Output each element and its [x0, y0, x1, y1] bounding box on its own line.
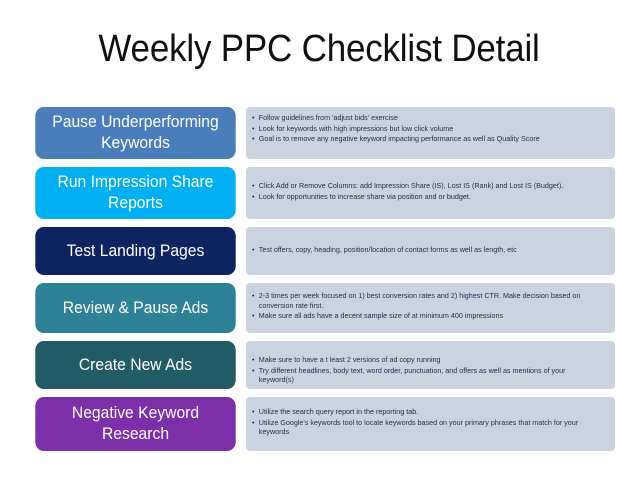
checklist-label-text: Pause Underperforming Keywords: [45, 112, 226, 154]
detail-bullet: Click Add or Remove Columns: add Impress…: [252, 181, 597, 191]
checklist-label-box[interactable]: Test Landing Pages: [35, 227, 235, 275]
detail-bullet: Utilize Google's keywords tool to locate…: [252, 418, 597, 437]
checklist-detail-panel: Test offers, copy, heading, position/loc…: [246, 227, 615, 275]
checklist-label-box[interactable]: Run Impression Share Reports: [35, 167, 235, 219]
checklist-label-text: Create New Ads: [79, 355, 192, 376]
slide: Weekly PPC Checklist Detail Pause Underp…: [0, 0, 638, 479]
detail-bullet: 2-3 times per week focused on 1) best co…: [252, 291, 597, 310]
checklist-label-text: Run Impression Share Reports: [45, 172, 226, 214]
detail-bullet: Goal is to remove any negative keyword i…: [252, 134, 597, 144]
detail-bullet: Make sure all ads have a decent sample s…: [252, 311, 597, 321]
checklist-label-box[interactable]: Review & Pause Ads: [35, 283, 235, 333]
detail-bullet: Look for keywords with high impressions …: [252, 124, 597, 134]
checklist-detail-panel: Follow guidelines from 'adjust bids' exe…: [246, 107, 615, 159]
detail-bullet: Follow guidelines from 'adjust bids' exe…: [252, 113, 597, 123]
checklist-row: Pause Underperforming Keywords Follow gu…: [30, 107, 615, 163]
checklist-row: Review & Pause Ads 2-3 times per week fo…: [30, 283, 615, 337]
detail-bullet: Utilize the search query report in the r…: [252, 407, 597, 417]
detail-bullet: Try different headlines, body text, word…: [252, 366, 597, 385]
checklist-label-box[interactable]: Create New Ads: [35, 341, 235, 389]
checklist-label-box[interactable]: Negative Keyword Research: [35, 397, 235, 451]
checklist-label-text: Negative Keyword Research: [45, 403, 226, 445]
checklist-rows: Pause Underperforming Keywords Follow gu…: [30, 107, 615, 459]
checklist-row: Run Impression Share Reports Click Add o…: [30, 167, 615, 223]
detail-bullet: Make sure to have a t least 2 versions o…: [252, 355, 597, 365]
checklist-row: Test Landing Pages Test offers, copy, he…: [30, 227, 615, 279]
checklist-label-text: Review & Pause Ads: [63, 298, 209, 319]
checklist-label-box[interactable]: Pause Underperforming Keywords: [35, 107, 235, 159]
checklist-detail-panel: 2-3 times per week focused on 1) best co…: [246, 283, 615, 333]
checklist-row: Create New Ads Make sure to have a t lea…: [30, 341, 615, 393]
checklist-label-text: Test Landing Pages: [67, 241, 205, 262]
checklist-row: Negative Keyword Research Utilize the se…: [30, 397, 615, 455]
detail-bullet: Look for opportunities to increase share…: [252, 192, 597, 202]
detail-bullet: Test offers, copy, heading, position/loc…: [252, 245, 597, 255]
checklist-detail-panel: Make sure to have a t least 2 versions o…: [246, 341, 615, 389]
checklist-detail-panel: Click Add or Remove Columns: add Impress…: [246, 167, 615, 219]
page-title: Weekly PPC Checklist Detail: [26, 26, 613, 72]
checklist-detail-panel: Utilize the search query report in the r…: [246, 397, 615, 451]
